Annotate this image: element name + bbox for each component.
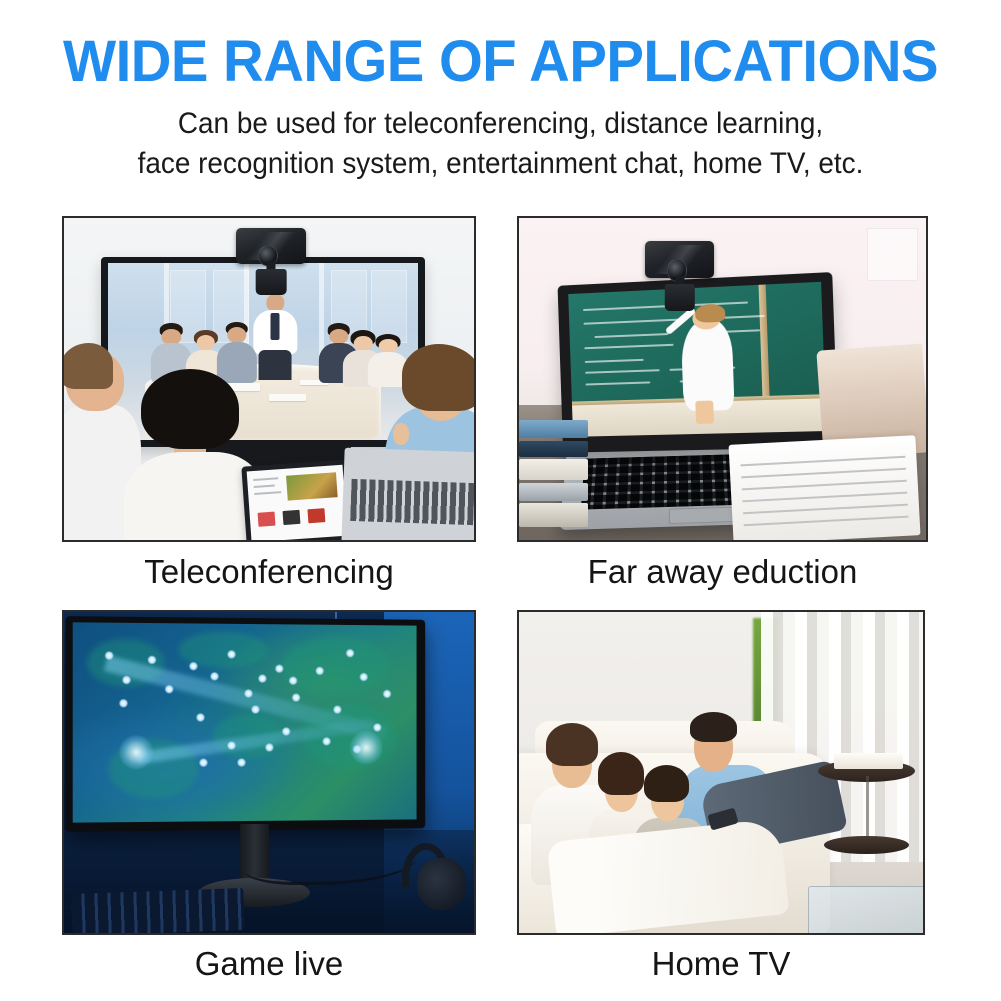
application-panel-home-tv	[517, 610, 925, 935]
tablet-screen	[247, 464, 348, 540]
application-panel-game-live	[62, 610, 476, 935]
panel-caption-teleconferencing: Teleconferencing	[62, 552, 476, 592]
gaming-headset	[400, 843, 470, 926]
webcam-device-icon	[645, 241, 714, 309]
panel-caption-game-live: Game live	[62, 944, 476, 984]
teleconferencing-photo	[64, 218, 474, 540]
book-on-table	[834, 753, 903, 769]
gaming-keyboard	[72, 888, 246, 933]
home-tv-photo	[519, 612, 923, 933]
webcam-clip-mount	[665, 284, 695, 311]
game-map-screen	[73, 623, 416, 823]
application-panel-teleconferencing	[62, 216, 476, 542]
laptop-touchpad	[669, 507, 735, 524]
page-root: WIDE RANGE OF APPLICATIONS Can be used f…	[0, 0, 1001, 1001]
panel-caption-home-tv: Home TV	[517, 944, 925, 984]
panel-caption-far-away-eduction: Far away eduction	[517, 552, 928, 592]
page-title: WIDE RANGE OF APPLICATIONS	[15, 30, 986, 94]
window-pane	[867, 228, 918, 282]
page-subtitle-line-2: face recognition system, entertainment c…	[35, 144, 966, 184]
gaming-monitor	[66, 617, 426, 833]
far-away-eduction-photo	[519, 218, 926, 540]
open-notebook	[728, 435, 920, 540]
foreground-laptop	[341, 447, 474, 540]
stacked-books	[519, 418, 588, 534]
student-dress	[680, 318, 734, 411]
glass-coffee-table	[808, 886, 923, 933]
webcam-device-icon	[236, 228, 306, 292]
game-live-photo	[64, 612, 474, 933]
page-subtitle-line-1: Can be used for teleconferencing, distan…	[35, 104, 966, 144]
webcam-clip-mount	[256, 269, 287, 295]
side-table	[818, 760, 915, 863]
tablet-device	[242, 459, 354, 540]
remote-presenter	[254, 288, 297, 380]
application-panel-far-away-eduction	[517, 216, 928, 542]
student-legs	[695, 400, 714, 424]
